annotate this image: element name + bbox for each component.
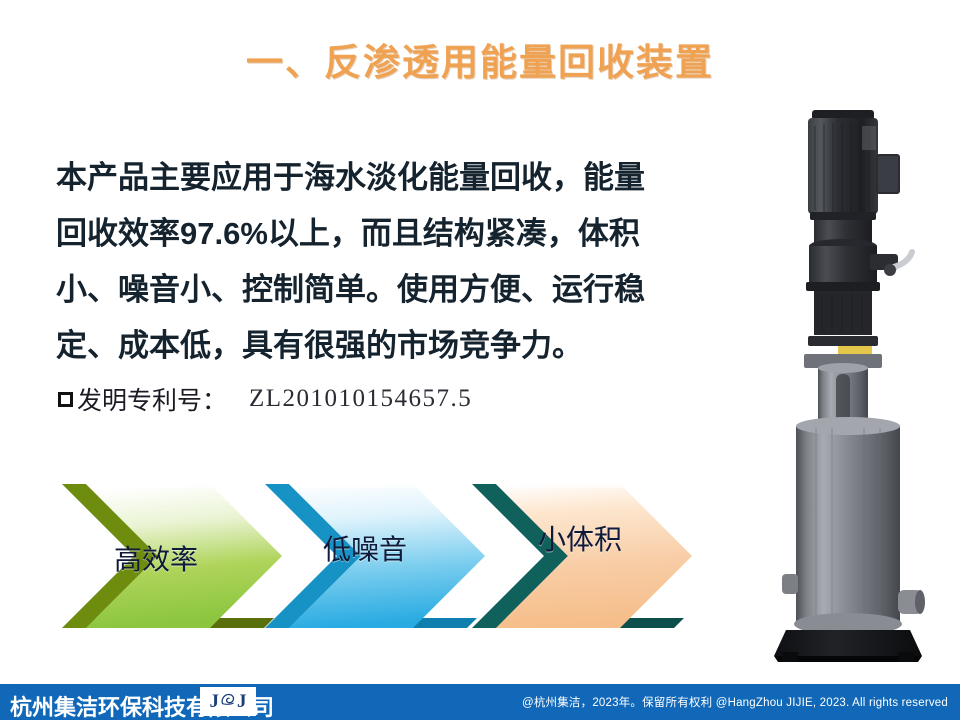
product-photo-pump [752, 96, 960, 666]
patent-line: 发明专利号： ZL201010154657.5 [58, 381, 472, 417]
chevron-label-3: 小体积 [538, 518, 622, 558]
company-logo[interactable]: J J [200, 687, 256, 716]
body-line-1: 本产品主要应用于海水淡化能量回收，能量 [56, 150, 696, 206]
benefit-chevron-row: 高效率 低噪音 [62, 478, 682, 638]
body-line-3: 小、噪音小、控制简单。使用方便、运行稳 [56, 262, 696, 318]
slide-root: 一、反渗透用能量回收装置 本产品主要应用于海水淡化能量回收，能量 回收效率97.… [0, 0, 960, 720]
chevron-small-volume[interactable]: 小体积 [472, 478, 722, 636]
shell-swirl-icon [220, 692, 236, 712]
patent-label: 发明专利号： [77, 381, 227, 417]
body-paragraph: 本产品主要应用于海水淡化能量回收，能量 回收效率97.6%以上，而且结构紧凑，体… [56, 150, 696, 374]
pump-illustration [752, 96, 960, 666]
footer-bar: 杭州集洁环保科技有限公司 J J @杭州集洁，2023年。保留所有权利 @Han… [0, 684, 960, 720]
body-line-4: 定、成本低，具有很强的市场竞争力。 [56, 318, 696, 374]
chevron-label-1: 高效率 [114, 538, 198, 578]
chevron-label-2: 低噪音 [323, 528, 407, 568]
body-line-2: 回收效率97.6%以上，而且结构紧凑，体积 [56, 206, 696, 262]
page-title: 一、反渗透用能量回收装置 [0, 32, 960, 86]
square-bullet-icon [58, 392, 73, 407]
logo-letter-left: J [210, 692, 220, 711]
logo-letter-right: J [237, 692, 247, 711]
copyright-text: @杭州集洁，2023年。保留所有权利 @HangZhou JIJIE, 2023… [522, 694, 948, 710]
patent-number: ZL201010154657.5 [249, 385, 472, 413]
